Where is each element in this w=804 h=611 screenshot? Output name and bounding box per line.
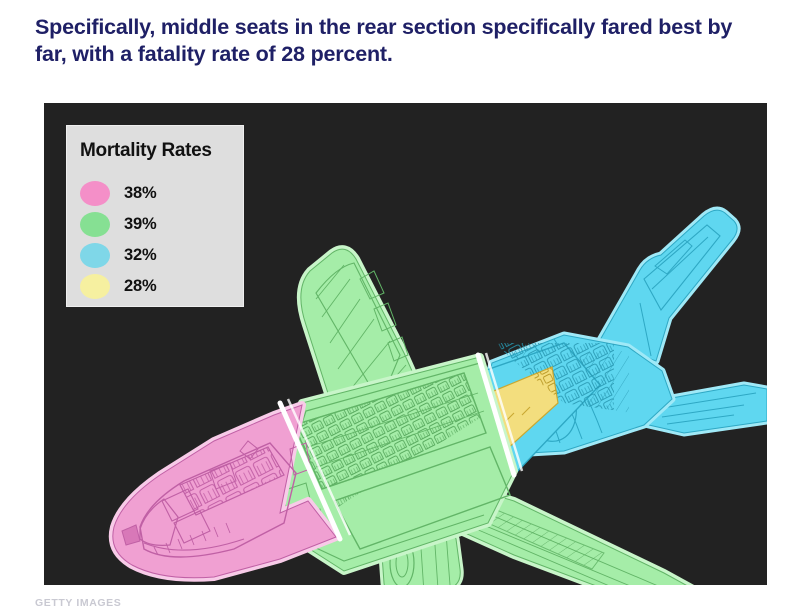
legend-swatch-blue-icon (80, 243, 110, 268)
legend-label-middle: 39% (124, 215, 156, 234)
image-credit: GETTY IMAGES (35, 597, 121, 609)
page-title: Specifically, middle seats in the rear s… (35, 14, 765, 68)
legend-box: Mortality Rates 38% 39% 32% 28% (66, 125, 244, 307)
legend-label-front: 38% (124, 184, 156, 203)
legend-swatch-yellow-icon (80, 274, 110, 299)
legend-item-rear-middle: 28% (80, 271, 230, 302)
legend-item-list: 38% 39% 32% 28% (80, 178, 230, 302)
article-figure-page: Specifically, middle seats in the rear s… (0, 0, 804, 611)
legend-label-rear: 32% (124, 246, 156, 265)
legend-title: Mortality Rates (80, 140, 212, 162)
legend-label-rear-middle: 28% (124, 277, 156, 296)
legend-swatch-pink-icon (80, 181, 110, 206)
legend-item-rear: 32% (80, 240, 230, 271)
figure-panel: Mortality Rates 38% 39% 32% 28% (44, 103, 767, 585)
legend-item-front: 38% (80, 178, 230, 209)
legend-item-middle: 39% (80, 209, 230, 240)
legend-swatch-green-icon (80, 212, 110, 237)
